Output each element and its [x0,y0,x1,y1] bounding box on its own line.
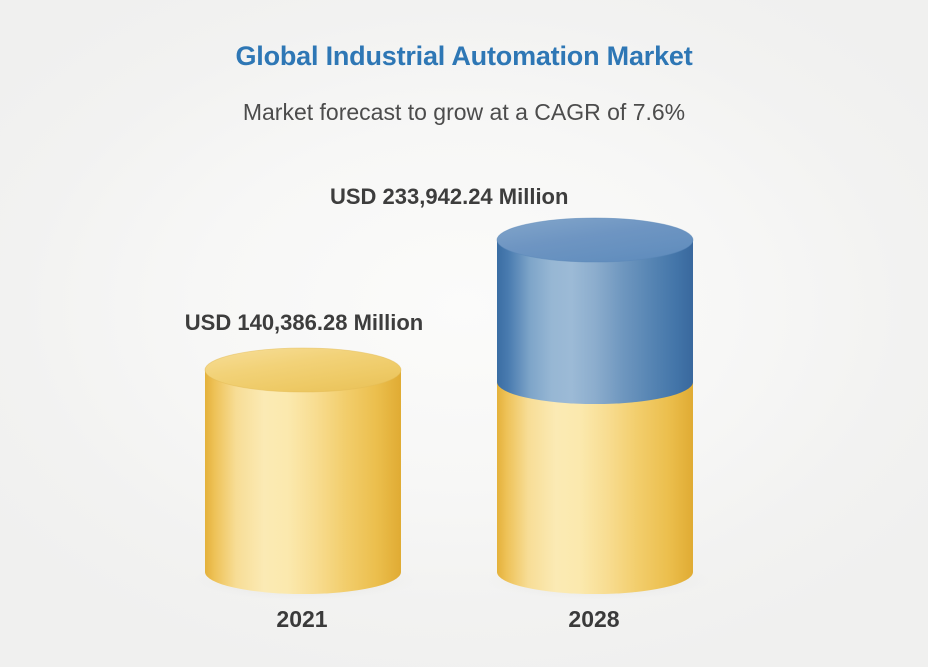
plot-area: USD 140,386.28 Million USD 233,942.24 Mi… [0,0,928,667]
category-label-2021: 2021 [202,606,402,633]
chart-canvas: Global Industrial Automation Market Mark… [0,0,928,667]
bar-2028-value-label: USD 233,942.24 Million [330,184,928,210]
category-label-2028: 2028 [494,606,694,633]
bar-2021-value-label: USD 140,386.28 Million [0,310,608,336]
bar-2021-body [205,370,401,594]
bar-2028-lower-segment [497,382,693,594]
bar-2028-cylinder[interactable] [477,200,713,620]
bar-2021-cylinder[interactable] [185,330,421,620]
